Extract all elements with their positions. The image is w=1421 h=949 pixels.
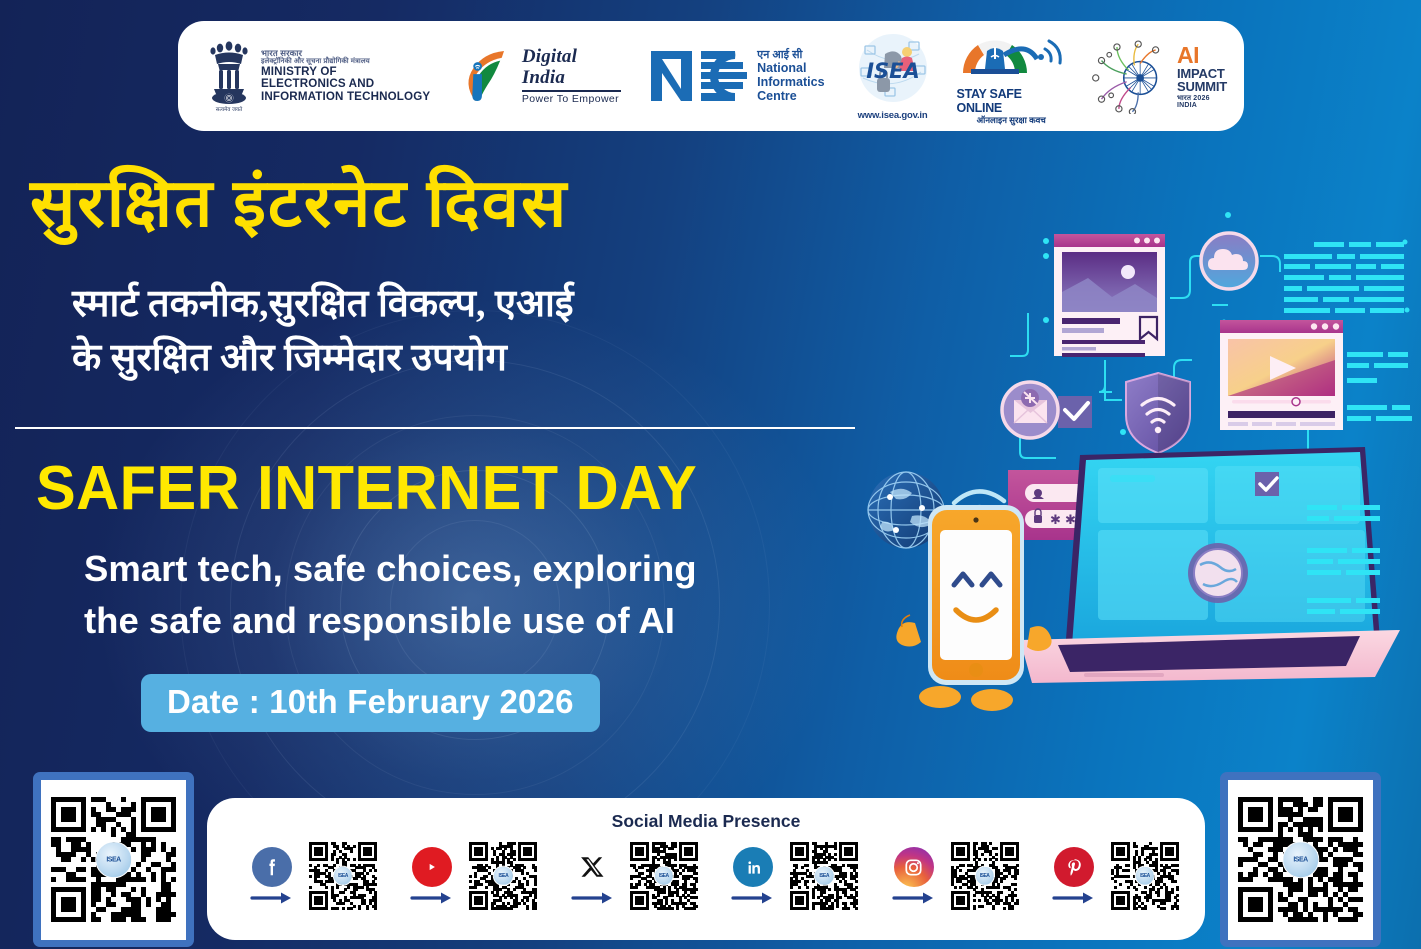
arrow-right-icon [571, 891, 615, 905]
page-tagline-english: Smart tech, safe choices, exploring the … [84, 543, 874, 647]
emblem-motto: सत्यमेव जयते [216, 106, 243, 113]
qr-code-x[interactable]: ISEA [630, 842, 698, 910]
x-twitter-icon[interactable] [573, 847, 613, 887]
nic-line-3: Centre [757, 89, 824, 103]
social-icon-group-facebook[interactable] [243, 847, 301, 905]
logo-ministry-of-electronics-and-it: सत्यमेव जयते भारत सरकार इलेक्ट्रॉनिकी और… [192, 21, 430, 131]
tagline-line-1: Smart tech, safe choices, exploring [84, 543, 874, 595]
social-item-pinterest[interactable]: ISEA [1045, 842, 1179, 910]
qr-code-right[interactable]: ISEA [1238, 797, 1363, 922]
qr-code-right-frame[interactable]: ISEA [1220, 772, 1381, 947]
ministry-hindi-line-1: भारत सरकार [261, 49, 430, 58]
social-media-bar: Social Media Presence ISEAISEAISEAISEAIS… [207, 798, 1205, 940]
page-title-hindi: सुरक्षित इंटरनेट दिवस [30, 168, 880, 240]
ministry-hindi-line-2: इलेक्ट्रॉनिकी और सूचना प्रौद्योगिकी मंत्… [261, 58, 430, 66]
ministry-line-2: ELECTRONICS AND [261, 78, 430, 91]
digital-india-tagline: Power To Empower [522, 94, 621, 106]
social-media-row: ISEAISEAISEAISEAISEAISEA [243, 842, 1179, 910]
ministry-line-3: INFORMATION TECHNOLOGY [261, 91, 430, 104]
ai-impact-summit-impact: IMPACT [1177, 67, 1230, 80]
event-date-badge: Date : 10th February 2026 [141, 674, 600, 732]
stay-safe-online-hindi: ऑनलाइन सुरक्षा कवच [977, 115, 1046, 126]
qr-logo-isea: ISEA [1282, 841, 1320, 879]
national-emblem-icon: सत्यमेव जयते [204, 37, 254, 115]
social-item-x[interactable]: ISEA [564, 842, 698, 910]
social-media-heading: Social Media Presence [207, 811, 1205, 832]
social-icon-group-instagram[interactable] [885, 847, 943, 905]
arrow-right-icon [892, 891, 936, 905]
social-item-linkedin[interactable]: ISEA [724, 842, 858, 910]
facebook-icon[interactable] [252, 847, 292, 887]
logo-ai-impact-summit: AI IMPACT SUMMIT भारत 2026 INDIA [1088, 21, 1230, 131]
cyber-safety-illustration: ✱ ✱ ✱ ✱ ✱ ✱ [860, 200, 1421, 720]
page-subtitle-hindi: स्मार्ट तकनीक,सुरक्षित विकल्प, एआई के सु… [72, 278, 872, 386]
social-item-facebook[interactable]: ISEA [243, 842, 377, 910]
qr-logo-isea: ISEA [95, 841, 133, 879]
poster-root: ✱ ✱ ✱ ✱ ✱ ✱ [0, 0, 1421, 949]
ai-impact-summit-sub: भारत 2026 INDIA [1177, 95, 1230, 109]
arrow-right-icon [410, 891, 454, 905]
ai-impact-summit-mark-icon [1088, 38, 1171, 114]
subtitle-hindi-line-1: स्मार्ट तकनीक,सुरक्षित विकल्प, एआई [72, 278, 872, 332]
social-item-youtube[interactable]: ISEA [403, 842, 537, 910]
instagram-icon[interactable] [894, 847, 934, 887]
pinterest-icon[interactable] [1054, 847, 1094, 887]
ai-impact-summit-summit: SUMMIT [1177, 80, 1230, 93]
stay-safe-online-title: STAY SAFE ONLINE [957, 87, 1066, 115]
social-item-instagram[interactable]: ISEA [885, 842, 1019, 910]
arrow-right-icon [731, 891, 775, 905]
logo-nic: एन आई सी National Informatics Centre [651, 21, 824, 131]
social-icon-group-pinterest[interactable] [1045, 847, 1103, 905]
qr-code-pinterest[interactable]: ISEA [1111, 842, 1179, 910]
qr-code-linkedin[interactable]: ISEA [790, 842, 858, 910]
digital-india-title: Digital India [522, 47, 621, 92]
arrow-right-icon [250, 891, 294, 905]
subtitle-hindi-line-2: के सुरक्षित और जिम्मेदार उपयोग [72, 332, 872, 386]
stay-safe-online-mark-icon [957, 27, 1065, 85]
social-icon-group-youtube[interactable] [403, 847, 461, 905]
isea-url: www.isea.gov.in [858, 110, 928, 121]
digital-india-mark-icon [456, 44, 516, 108]
qr-code-youtube[interactable]: ISEA [469, 842, 537, 910]
social-icon-group-linkedin[interactable] [724, 847, 782, 905]
qr-code-facebook[interactable]: ISEA [309, 842, 377, 910]
isea-wordmark: ISEA [866, 59, 920, 83]
nic-line-1: National [757, 61, 824, 75]
section-divider [15, 427, 855, 429]
logo-digital-india: Digital India Power To Empower [456, 21, 621, 131]
youtube-icon[interactable] [412, 847, 452, 887]
nic-mark-icon [651, 45, 749, 107]
social-icon-group-x[interactable] [564, 847, 622, 905]
logo-stay-safe-online: STAY SAFE ONLINE ऑनलाइन सुरक्षा कवच [957, 21, 1066, 131]
page-title-english: SAFER INTERNET DAY [36, 458, 697, 520]
linkedin-icon[interactable] [733, 847, 773, 887]
isea-mark-icon: ISEA [849, 32, 937, 108]
qr-code-left[interactable]: ISEA [51, 797, 176, 922]
header-logo-strip: सत्यमेव जयते भारत सरकार इलेक्ट्रॉनिकी और… [178, 21, 1244, 131]
nic-line-2: Informatics [757, 75, 824, 89]
tagline-line-2: the safe and responsible use of AI [84, 595, 874, 647]
qr-code-left-frame[interactable]: ISEA [33, 772, 194, 947]
nic-hindi: एन आई सी [757, 49, 824, 61]
qr-code-instagram[interactable]: ISEA [951, 842, 1019, 910]
logo-isea: ISEA www.isea.gov.in [849, 21, 937, 131]
arrow-right-icon [1052, 891, 1096, 905]
ai-impact-summit-ai: AI [1177, 44, 1230, 67]
